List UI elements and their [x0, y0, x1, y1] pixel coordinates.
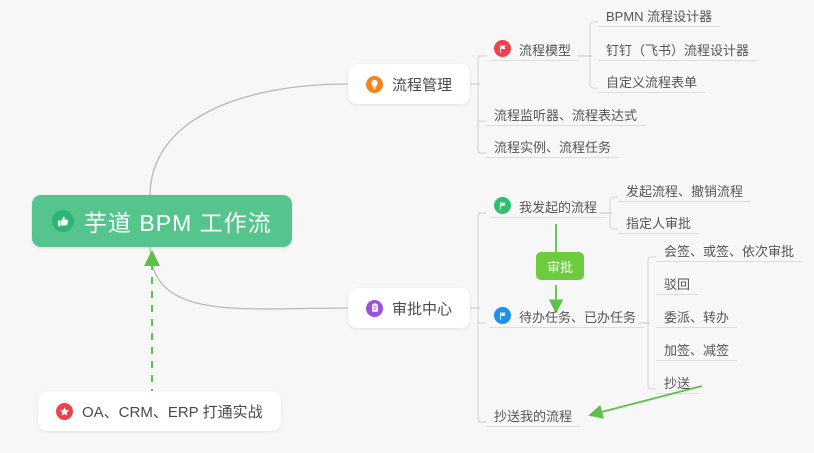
node-process-instance-task-label: 流程实例、流程任务	[494, 141, 611, 154]
flag-icon	[494, 307, 511, 324]
root-node[interactable]: 芋道 BPM 工作流	[32, 195, 292, 247]
link-root-to-approval-center	[150, 246, 348, 309]
node-process-listener-expression-label: 流程监听器、流程表达式	[494, 109, 637, 122]
branch-approval-center[interactable]: 审批中心	[348, 288, 470, 328]
node-countersign-orsign-sequential[interactable]: 会签、或签、依次审批	[656, 237, 802, 261]
node-custom-process-form-label: 自定义流程表单	[606, 76, 697, 89]
branch-process-management[interactable]: 流程管理	[348, 64, 470, 104]
node-todo-done-tasks-label: 待办任务、已办任务	[519, 311, 636, 324]
bracket-process-model	[590, 22, 598, 88]
node-cc[interactable]: 抄送	[656, 369, 698, 393]
node-my-initiated-process-label: 我发起的流程	[519, 201, 597, 214]
bracket-approval-center	[478, 213, 486, 422]
node-cc-to-me-process-label: 抄送我的流程	[494, 410, 572, 423]
node-process-listener-expression[interactable]: 流程监听器、流程表达式	[486, 101, 645, 125]
node-start-cancel-process[interactable]: 发起流程、撤销流程	[618, 177, 751, 201]
flag-icon	[494, 40, 511, 57]
mindmap-canvas: 芋道 BPM 工作流 流程管理 审批中心	[0, 0, 814, 453]
node-process-model-label: 流程模型	[519, 44, 571, 57]
thumbs-up-icon	[52, 210, 74, 232]
bracket-todo-done	[648, 257, 656, 389]
branch-approval-center-label: 审批中心	[392, 298, 452, 319]
lightbulb-icon	[366, 76, 383, 93]
clipboard-icon	[366, 300, 383, 317]
bracket-process-management	[478, 56, 486, 153]
node-add-remove-sign[interactable]: 加签、减签	[656, 336, 737, 360]
node-reject-label: 驳回	[664, 278, 690, 291]
node-reject[interactable]: 驳回	[656, 270, 698, 294]
node-countersign-orsign-sequential-label: 会签、或签、依次审批	[664, 245, 794, 258]
node-bpmn-designer[interactable]: BPMN 流程设计器	[598, 2, 720, 26]
node-assignee-approval[interactable]: 指定人审批	[618, 209, 699, 233]
node-cc-label: 抄送	[664, 377, 690, 390]
approval-badge[interactable]: 审批	[536, 252, 584, 280]
node-cc-to-me-process[interactable]: 抄送我的流程	[486, 402, 580, 426]
node-start-cancel-process-label: 发起流程、撤销流程	[626, 185, 743, 198]
node-delegate-transfer-label: 委派、转办	[664, 311, 729, 324]
node-process-model[interactable]: 流程模型	[490, 36, 579, 60]
approval-badge-label: 审批	[547, 257, 573, 276]
node-oa-crm-erp-label: OA、CRM、ERP 打通实战	[82, 401, 263, 422]
node-assignee-approval-label: 指定人审批	[626, 217, 691, 230]
node-custom-process-form[interactable]: 自定义流程表单	[598, 68, 705, 92]
node-oa-crm-erp[interactable]: OA、CRM、ERP 打通实战	[38, 391, 281, 431]
node-delegate-transfer[interactable]: 委派、转办	[656, 303, 737, 327]
node-dingtalk-feishu-designer[interactable]: 钉钉（飞书）流程设计器	[598, 36, 757, 60]
node-add-remove-sign-label: 加签、减签	[664, 344, 729, 357]
flag-icon	[494, 197, 511, 214]
node-todo-done-tasks[interactable]: 待办任务、已办任务	[490, 303, 644, 327]
bracket-my-initiated	[610, 197, 618, 229]
branch-process-management-label: 流程管理	[392, 74, 452, 95]
star-icon	[56, 403, 73, 420]
node-process-instance-task[interactable]: 流程实例、流程任务	[486, 133, 619, 157]
node-dingtalk-feishu-designer-label: 钉钉（飞书）流程设计器	[606, 44, 749, 57]
node-my-initiated-process[interactable]: 我发起的流程	[490, 193, 605, 217]
node-bpmn-designer-label: BPMN 流程设计器	[606, 10, 712, 23]
link-root-to-process-management	[150, 84, 348, 196]
root-label: 芋道 BPM 工作流	[84, 204, 272, 238]
